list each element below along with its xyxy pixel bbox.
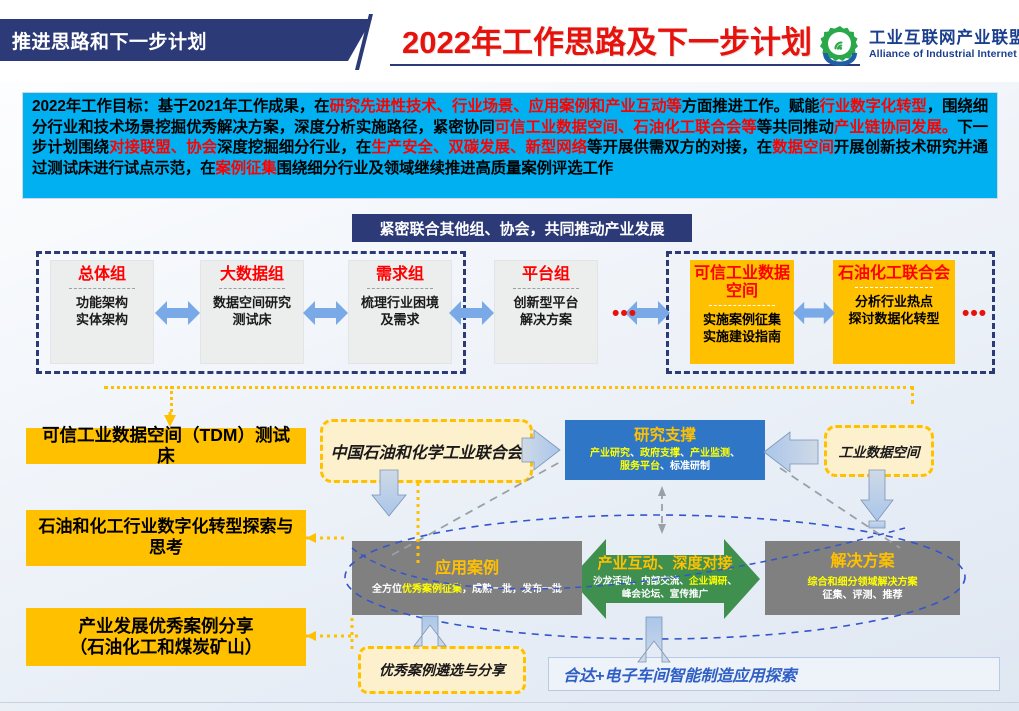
arrow-down-ids (861, 470, 893, 521)
objective-highlight: 数据空间 (772, 139, 834, 156)
double-arrow-icon (303, 298, 348, 328)
arrow-up-into-cases (414, 616, 446, 646)
objective-callout: 2022年工作目标：基于2021年工作成果，在研究先进性技术、行业场景、应用案例… (22, 92, 998, 199)
group-card-cpcif[interactable]: 石油化工联合会 分析行业热点探讨数据化转型 (833, 260, 955, 364)
group-card-body: 实施案例征集实施建设指南 (703, 311, 781, 345)
divider (513, 288, 578, 289)
group-card-body: 数据空间研究测试床 (213, 294, 291, 328)
yellow-bar-tdm-testbed[interactable]: 可信工业数据空间（TDM）测试床 (26, 428, 306, 464)
group-card-body: 功能架构实体架构 (76, 294, 128, 328)
dashed-box-industrial-data-space[interactable]: 工业数据空间 (824, 425, 934, 477)
dashed-box-case-selection[interactable]: 优秀案例遴选与分享 (358, 646, 526, 694)
dashed-box-cpcif[interactable]: 中国石油和化学工业联合会 (320, 419, 533, 483)
research-support-box[interactable]: 研究支撑 产业研究、政府支撑、产业监测、服务平台、标准研制 (565, 420, 765, 480)
objective-plain: 深度挖掘细分行业，在 (217, 139, 371, 156)
objective-paragraph: 2022年工作目标：基于2021年工作成果，在研究先进性技术、行业场景、应用案例… (32, 97, 988, 179)
objective-plain: 方面推进工作。赋能 (682, 98, 820, 115)
slide-bottom-rule (0, 702, 1019, 703)
arrow-down-into-solution (869, 521, 885, 528)
page-title: 2022年工作思路及下一步计划 (392, 16, 822, 62)
objective-highlight: 对接联盟、协会 (109, 139, 217, 156)
grey-arrow-head-up (658, 486, 666, 496)
group-card-platform[interactable]: 平台组 创新型平台解决方案 (494, 260, 598, 364)
divider (219, 288, 284, 289)
group-card-body: 分析行业热点探讨数据化转型 (848, 293, 939, 327)
divider (69, 288, 134, 289)
objective-plain: 2022年工作目标：基于2021年工作成果，在 (32, 98, 329, 115)
divider (855, 287, 933, 288)
group-card-title: 总体组 (78, 261, 126, 284)
section1-banner: 紧密联合其他组、协会，共同推动产业发展 (352, 214, 692, 242)
orange-arrow-head-left-2 (306, 631, 316, 641)
objective-highlight: 行业数字化转型 (820, 98, 927, 115)
group-card-overall[interactable]: 总体组 功能架构实体架构 (50, 260, 154, 364)
double-arrow-icon (793, 298, 835, 328)
objective-plain: 等共同推动 (757, 119, 834, 136)
slide-canvas: 推进思路和下一步计划 2022年工作思路及下一步计划 工业互联网产业联盟 All… (0, 0, 1019, 711)
objective-highlight: 产业链协同发展。 (834, 119, 957, 136)
objective-highlight: 生产安全、双碳发展、新型网络 (371, 139, 587, 156)
ellipsis-right: ••• (962, 303, 987, 324)
logo-title-en: Alliance of Industrial Internet (869, 48, 1019, 61)
solutions-subtext: 综合和细分领域解决方案征集、评测、推荐 (808, 576, 918, 603)
research-support-subtext: 产业研究、政府支撑、产业监测、服务平台、标准研制 (590, 447, 740, 473)
group-card-title: 可信工业数据空间 (694, 260, 790, 301)
group-card-tdm[interactable]: 可信工业数据空间 实施案例征集实施建设指南 (690, 260, 794, 364)
objective-highlight: 可信工业数据空间、石油化工联合会等 (495, 119, 757, 136)
bottom-note-bar: 合达+电子车间智能制造应用探索 (548, 657, 1000, 691)
objective-highlight: 研究先进性技术、行业场景、应用案例和产业互动等 (329, 98, 681, 115)
ellipsis-left: ••• (612, 303, 637, 324)
double-arrow-icon (449, 298, 494, 328)
header-section-tab-label: 推进思路和下一步计划 (0, 27, 207, 54)
yellow-bar-digital-transformation[interactable]: 石油和化工行业数字化转型探索与思考 (26, 510, 306, 566)
logo-title-cn: 工业互联网产业联盟 (869, 29, 1019, 47)
group-card-requirements[interactable]: 需求组 梳理行业困境及需求 (348, 260, 452, 364)
double-arrow-icon (155, 298, 200, 328)
solutions-title: 解决方案 (830, 553, 894, 571)
group-card-body: 梳理行业困境及需求 (361, 294, 439, 328)
logo-text-block: 工业互联网产业联盟 Alliance of Industrial Interne… (869, 29, 1019, 60)
group-card-title: 石油化工联合会 (838, 260, 950, 283)
objective-plain: 等开展供需双方的对接，在 (587, 139, 772, 156)
industry-interaction-chevron (570, 533, 760, 625)
orange-arrow-head-left (306, 533, 316, 543)
group-card-bigdata[interactable]: 大数据组 数据空间研究测试床 (200, 260, 304, 364)
objective-plain: 围绕细分行业及领域继续推进高质量案例评选工作 (277, 160, 613, 177)
group-card-title: 大数据组 (220, 261, 284, 284)
research-support-title: 研究支撑 (634, 427, 696, 444)
divider (367, 288, 432, 289)
yellow-dotted-connector-right (911, 386, 915, 404)
group-card-title: 需求组 (376, 261, 424, 284)
header-underline (390, 64, 860, 66)
header-section-tab: 推进思路和下一步计划 (0, 19, 372, 61)
application-cases-box[interactable]: 应用案例 全方位优秀案例征集，成熟一批，发布一批 (352, 541, 582, 615)
yellow-dotted-connector (104, 386, 914, 390)
aii-logo: 工业互联网产业联盟 Alliance of Industrial Interne… (818, 22, 1014, 68)
bottom-note-label: 合达+电子车间智能制造应用探索 (563, 662, 796, 686)
yellow-bar-case-sharing[interactable]: 产业发展优秀案例分享（石油化工和煤炭矿山） (26, 608, 306, 666)
grey-dashed-link-right (780, 468, 900, 548)
solutions-box[interactable]: 解决方案 综合和细分领域解决方案征集、评测、推荐 (765, 541, 960, 615)
group-card-title: 平台组 (522, 261, 570, 284)
application-cases-title: 应用案例 (435, 560, 499, 578)
objective-highlight: 案例征集 (216, 160, 277, 177)
divider (709, 305, 776, 306)
gear-wifi-icon (818, 23, 862, 67)
group-card-body: 创新型平台解决方案 (513, 294, 578, 328)
yellow-dotted-connector-left (170, 386, 174, 412)
application-cases-subtext: 全方位优秀案例征集，成熟一批，发布一批 (372, 583, 562, 597)
arrow-left-ids-to-research (764, 432, 818, 472)
